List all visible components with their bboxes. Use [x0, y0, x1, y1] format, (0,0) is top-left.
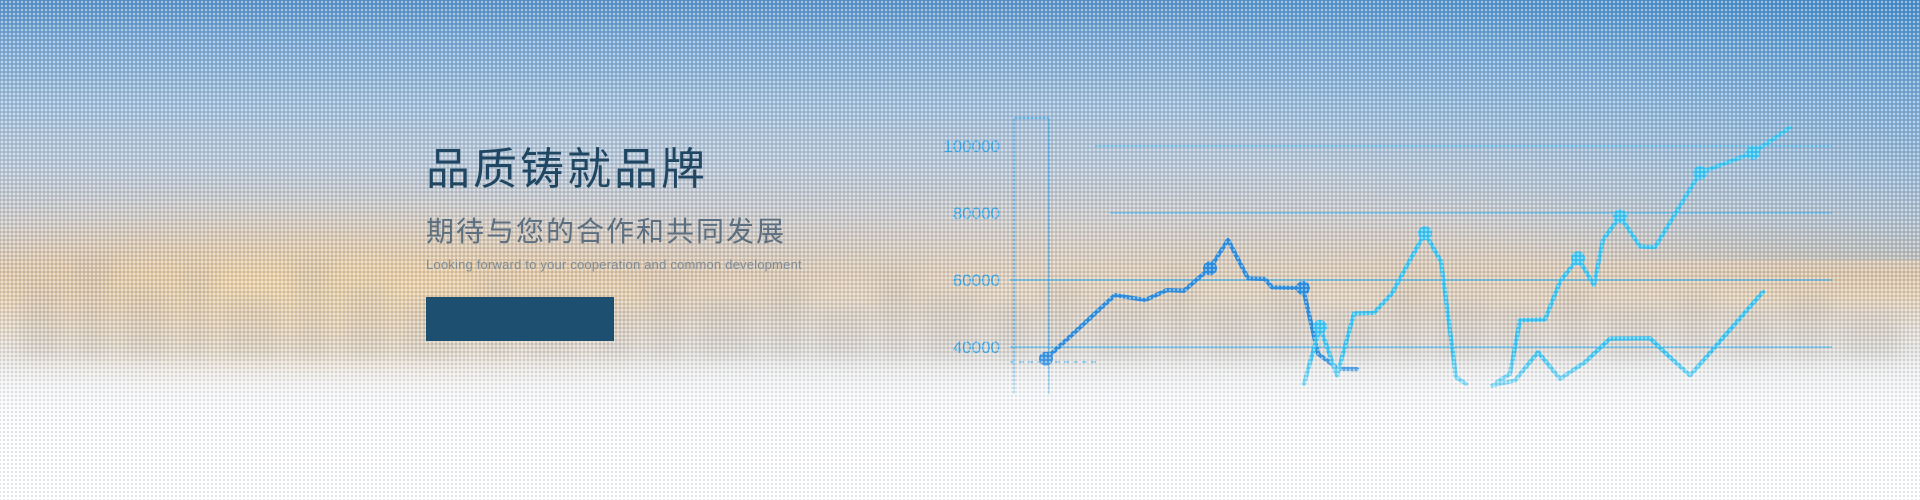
hero-copy-block: 品质铸就品牌 期待与您的合作和共同发展 Looking forward to y…	[426, 148, 1066, 341]
hero-banner: 100000 80000 60000 40000 品质铸就品牌 期待与您的合作和…	[0, 0, 1920, 500]
page-title: 品质铸就品牌	[426, 148, 1066, 192]
page-subtitle: 期待与您的合作和共同发展	[426, 218, 1066, 246]
page-subtitle-english: Looking forward to your cooperation and …	[426, 258, 1066, 271]
cta-button[interactable]	[426, 297, 614, 341]
